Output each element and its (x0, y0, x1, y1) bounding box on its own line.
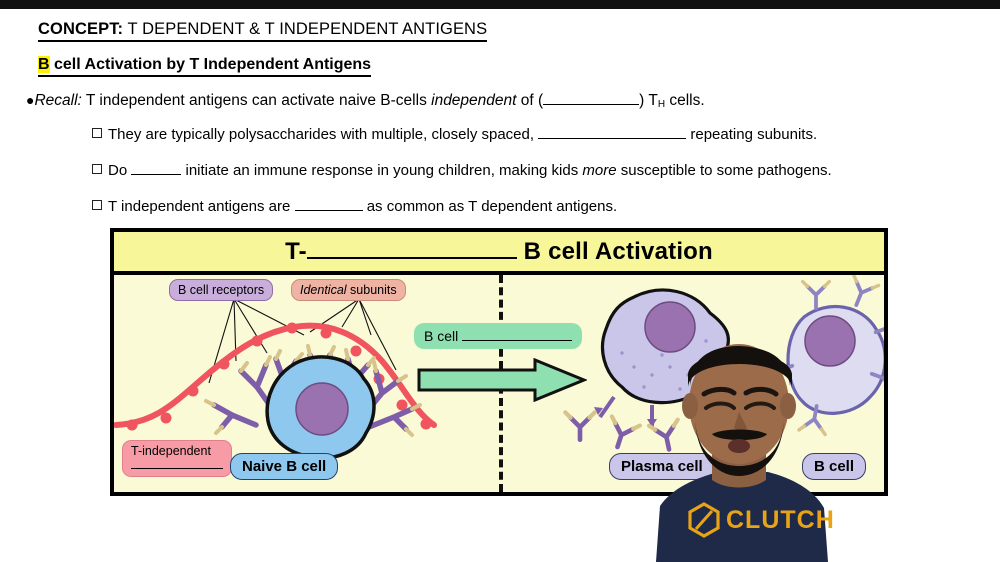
sub-bullet-1: They are typically polysaccharides with … (92, 126, 817, 143)
presenter-video-overlay: CLUTCH (600, 330, 880, 562)
recall-bullet-line: ●Recall: T independent antigens can acti… (26, 92, 705, 110)
sub-bullet-3: T independent antigens are as common as … (92, 198, 617, 215)
presenter-figure: CLUTCH (600, 330, 880, 562)
recall-label: Recall: (34, 92, 81, 109)
recall-text-1: T independent antigens can activate naiv… (82, 92, 431, 109)
presenter-ear-right (780, 393, 796, 419)
diagram-title: T- B cell Activation (285, 238, 713, 266)
sub-bullet-1-text-2: repeating subunits. (686, 126, 817, 143)
label-t-independent-text: T-independent (131, 444, 211, 458)
label-subunits-text: subunits (347, 283, 397, 297)
presenter-mouth (728, 439, 750, 453)
sub-bullet-1-text-1: They are typically polysaccharides with … (108, 126, 538, 143)
label-naive-b-cell-text: Naive B cell (242, 458, 326, 475)
concept-title: T DEPENDENT & T INDEPENDENT ANTIGENS (123, 20, 487, 38)
diagram-title-prefix: T- (285, 238, 307, 265)
label-t-independent: T-independent (122, 440, 232, 477)
sub-bullet-2-text-1: Do (108, 162, 131, 179)
concept-label: CONCEPT: (38, 20, 123, 38)
recall-italic-independent: independent (431, 92, 516, 109)
presenter-ear-left (682, 393, 698, 419)
b-cell-process-blank (462, 340, 572, 341)
recall-text-3: ) T (639, 92, 658, 109)
sub-bullet-2-text-3: susceptible to some pathogens. (617, 162, 832, 179)
square-bullet-icon (92, 164, 102, 174)
b-cell-process-text: B cell (424, 328, 462, 344)
subheading-rest: cell Activation by T Independent Antigen… (50, 56, 372, 73)
label-naive-b-cell: Naive B cell (230, 453, 338, 480)
subheading-highlight-letter: B (38, 56, 50, 73)
label-identical-italic: Identical (300, 283, 347, 297)
diagram-title-blank (307, 257, 517, 259)
sub-bullet-2-blank (131, 174, 181, 175)
sub-bullet-2: Do initiate an immune response in young … (92, 162, 832, 179)
section-subheading: B cell Activation by T Independent Antig… (38, 56, 371, 77)
sub-bullet-2-text-2: initiate an immune response in young chi… (181, 162, 582, 179)
square-bullet-icon (92, 128, 102, 138)
process-arrow (417, 358, 587, 402)
square-bullet-icon (92, 200, 102, 210)
top-black-bar (0, 0, 1000, 9)
sub-bullet-3-blank (295, 210, 363, 211)
recall-subscript-h: H (658, 99, 665, 110)
sub-bullet-2-italic-more: more (582, 162, 616, 179)
clutch-logo-text: CLUTCH (726, 506, 835, 534)
label-b-cell-receptors-text: B cell receptors (178, 283, 264, 297)
diagram-title-suffix: B cell Activation (517, 238, 713, 265)
diagram-title-banner: T- B cell Activation (114, 232, 884, 275)
concept-heading: CONCEPT: T DEPENDENT & T INDEPENDENT ANT… (38, 20, 487, 42)
b-cell-process-label: B cell (414, 323, 582, 349)
label-b-cell-receptors: B cell receptors (169, 279, 273, 301)
recall-text-2: of ( (516, 92, 543, 109)
sub-bullet-3-text-2: as common as T dependent antigens. (363, 198, 618, 215)
label-identical-subunits: Identical subunits (291, 279, 406, 301)
sub-bullet-1-blank (538, 138, 686, 139)
sub-bullet-3-text-1: T independent antigens are (108, 198, 295, 215)
naive-b-cell-nucleus (296, 383, 348, 435)
recall-fill-blank (543, 104, 639, 105)
recall-text-4: cells. (665, 92, 705, 109)
label-t-independent-blank (131, 468, 223, 469)
